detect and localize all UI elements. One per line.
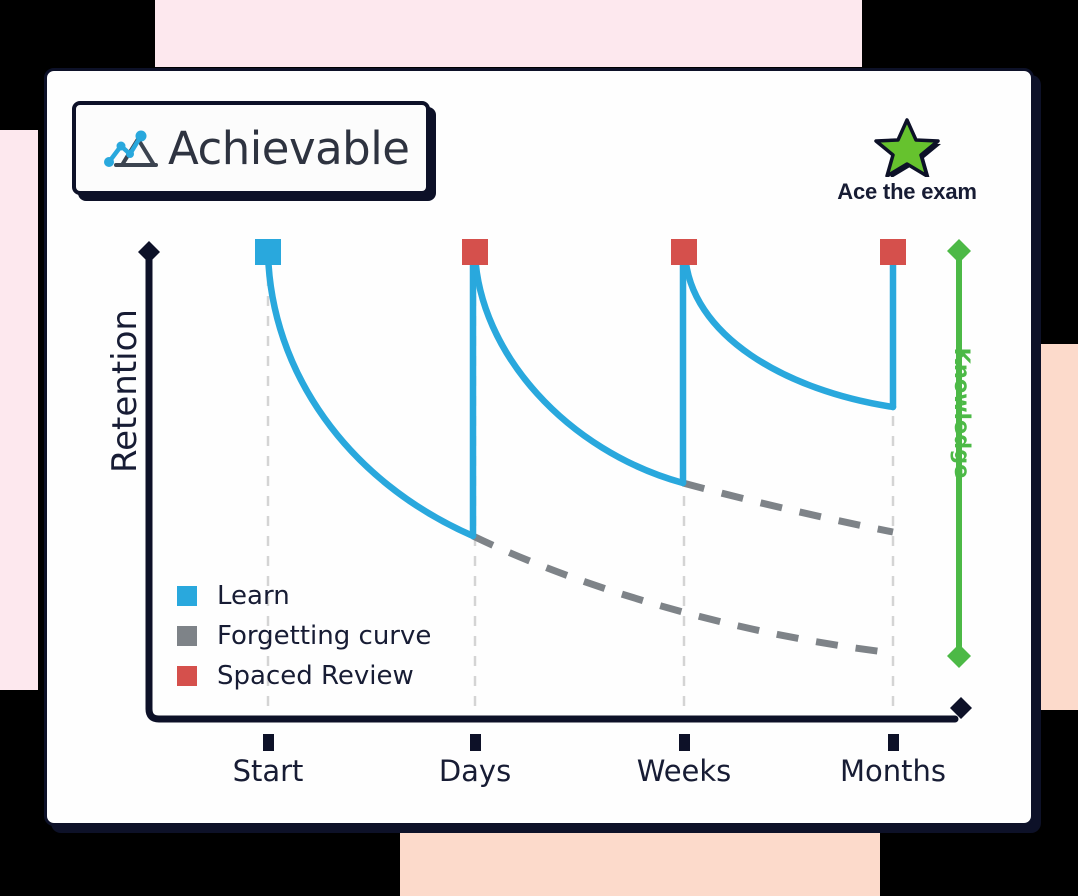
forgetting-curve-2	[683, 483, 893, 532]
knowledge-arrow-head-bottom	[947, 644, 971, 668]
decor-block-top-pink	[155, 0, 862, 67]
event-markers	[255, 239, 906, 265]
y-axis-arrow-head	[138, 241, 160, 263]
chart-card: Achievable Ace the exam	[44, 68, 1034, 826]
marker-review-days	[462, 239, 488, 265]
knowledge-annotation-label: Knowledge	[950, 313, 974, 513]
decay-segment-days-to-weeks	[475, 253, 683, 483]
x-tick-label-weeks: Weeks	[604, 754, 764, 788]
forgetting-curve-series	[473, 483, 893, 653]
forgetting-curve-1	[473, 536, 893, 653]
legend-item-spaced-review: Spaced Review	[177, 656, 431, 696]
x-tick-label-days: Days	[395, 754, 555, 788]
decor-block-bottom-peach	[400, 833, 880, 896]
decor-block-left-pink	[0, 130, 38, 690]
decay-segment-weeks-to-months	[685, 253, 893, 407]
marker-review-weeks	[671, 239, 697, 265]
x-tick-label-start: Start	[188, 754, 348, 788]
legend-label-learn: Learn	[217, 581, 290, 611]
legend-swatch-learn	[177, 586, 197, 606]
retention-chart	[47, 71, 1037, 829]
legend-item-forgetting-curve: Forgetting curve	[177, 616, 431, 656]
knowledge-arrow-head-top	[947, 239, 971, 263]
poster-canvas: Achievable Ace the exam	[0, 0, 1078, 896]
chart-legend: Learn Forgetting curve Spaced Review	[177, 576, 431, 696]
legend-swatch-spaced-review	[177, 666, 197, 686]
marker-learn-start	[255, 239, 281, 265]
x-tick-marks	[263, 734, 899, 751]
x-tick-label-months: Months	[813, 754, 973, 788]
decor-block-right-peach	[1040, 344, 1078, 710]
legend-label-spaced-review: Spaced Review	[217, 661, 414, 691]
learn-retention-series	[268, 253, 893, 536]
decay-segment-start-to-days	[268, 253, 473, 536]
marker-review-months	[880, 239, 906, 265]
legend-label-forgetting-curve: Forgetting curve	[217, 621, 431, 651]
legend-item-learn: Learn	[177, 576, 431, 616]
y-axis-title: Retention	[105, 291, 145, 491]
legend-swatch-forgetting-curve	[177, 626, 197, 646]
